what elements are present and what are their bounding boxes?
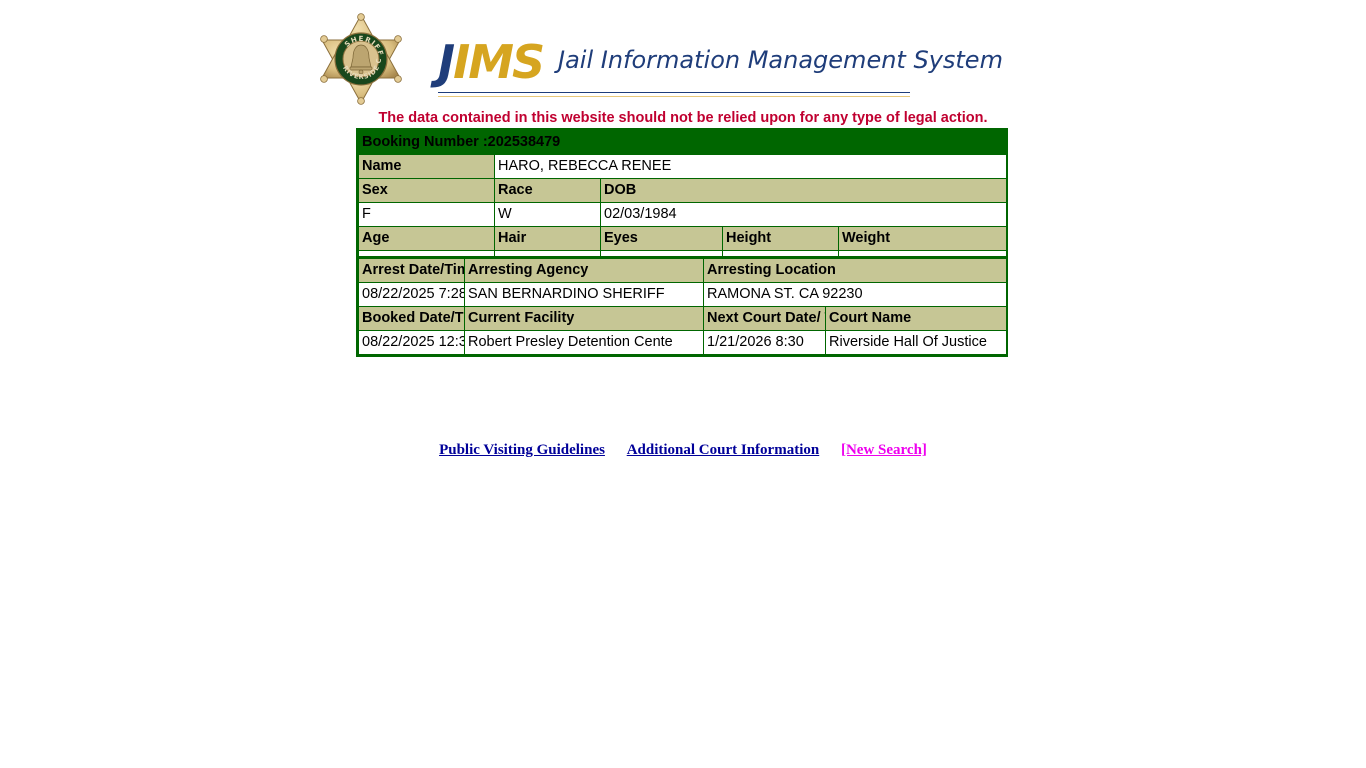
table-row-physical-headers: Age Hair Eyes Height Weight [359,227,1007,251]
inmate-info-table: Booking Number :202538479 Name HARO, REB… [358,130,1007,275]
jims-logo: JIMS Jail Information Management System [438,36,918,98]
site-header: SHERIFF RIVERSIDE COUNTY JIMS Jail Infor… [0,0,1366,108]
table-row-sex-race-dob-values: F W 02/03/1984 [359,203,1007,227]
arrest-datetime-label: Arrest Date/Time [359,259,465,283]
inmate-info-table-wrapper: Booking Number :202538479 Name HARO, REB… [356,128,1008,277]
next-court-datetime-label: Next Court Date/ Time [704,307,826,331]
booking-number-row: Booking Number :202538479 [359,131,1007,155]
booked-datetime-value: 08/22/2025 12:32 [359,331,465,355]
link-new-search[interactable]: [New Search] [841,442,927,458]
sheriff-star-badge-icon: SHERIFF RIVERSIDE COUNTY [318,12,404,106]
jims-letters-ims: IMS [453,35,543,89]
table-row-arrest-headers: Arrest Date/Time Arresting Agency Arrest… [359,259,1007,283]
page-root: SHERIFF RIVERSIDE COUNTY JIMS Jail Infor… [0,0,1366,768]
booked-datetime-label: Booked Date/Time [359,307,465,331]
table-row-booked-values: 08/22/2025 12:32 Robert Presley Detentio… [359,331,1007,355]
arresting-location-value: RAMONA ST. CA 92230 [704,283,1007,307]
current-facility-label: Current Facility [465,307,704,331]
name-value: HARO, REBECCA RENEE [495,155,1007,179]
arrest-info-table: Arrest Date/Time Arresting Agency Arrest… [358,258,1007,355]
race-label: Race [495,179,601,203]
arrest-info-table-wrapper: Arrest Date/Time Arresting Agency Arrest… [356,256,1008,357]
sex-label: Sex [359,179,495,203]
court-name-label: Court Name [826,307,1007,331]
sex-value: F [359,203,495,227]
court-name-value: Riverside Hall Of Justice [826,331,1007,355]
footer-links: Public Visiting Guidelines Additional Co… [0,442,1366,459]
link-additional-court-information[interactable]: Additional Court Information [627,442,820,458]
jims-letter-j: J [438,35,453,89]
current-facility-value: Robert Presley Detention Cente [465,331,704,355]
race-value: W [495,203,601,227]
table-row-name: Name HARO, REBECCA RENEE [359,155,1007,179]
next-court-datetime-value: 1/21/2026 8:30 [704,331,826,355]
age-label: Age [359,227,495,251]
table-row-sex-race-dob-headers: Sex Race DOB [359,179,1007,203]
arrest-datetime-value: 08/22/2025 7:28 [359,283,465,307]
height-label: Height [723,227,839,251]
weight-label: Weight [839,227,1007,251]
hair-label: Hair [495,227,601,251]
arresting-location-label: Arresting Location [704,259,1007,283]
jims-subtitle: Jail Information Management System [558,46,1003,74]
link-public-visiting-guidelines[interactable]: Public Visiting Guidelines [439,442,605,458]
name-label: Name [359,155,495,179]
dob-value: 02/03/1984 [601,203,1007,227]
logo-divider-rule [438,92,910,97]
jims-wordmark: JIMS [438,36,543,88]
table-row-arrest-values: 08/22/2025 7:28 SAN BERNARDINO SHERIFF R… [359,283,1007,307]
eyes-label: Eyes [601,227,723,251]
dob-label: DOB [601,179,1007,203]
legal-disclaimer: The data contained in this website shoul… [0,110,1366,126]
table-row-booked-headers: Booked Date/Time Current Facility Next C… [359,307,1007,331]
booking-number-bar: Booking Number :202538479 [359,131,1007,155]
arresting-agency-value: SAN BERNARDINO SHERIFF [465,283,704,307]
arresting-agency-label: Arresting Agency [465,259,704,283]
